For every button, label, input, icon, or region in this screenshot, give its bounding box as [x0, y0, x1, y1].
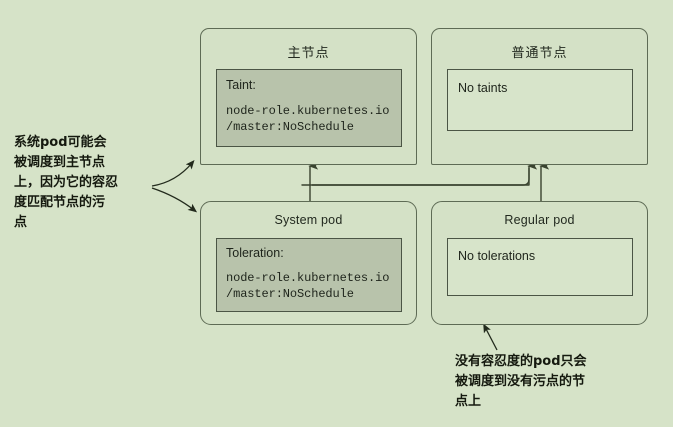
system-pod-box[interactable]: System pod Toleration: node-role.kuberne…: [200, 201, 417, 325]
left-annotation-text: 系统pod可能会 被调度到主节点 上，因为它的容忍 度匹配节点的污 点: [14, 133, 179, 233]
bottom-annotation-text: 没有容忍度的pod只会 被调度到没有污点的节 点上: [455, 352, 655, 412]
system-pod-title: System pod: [201, 213, 416, 227]
edge-systempod-branch-elbow: [312, 168, 529, 185]
taint-value: node-role.kubernetes.io /master:NoSchedu…: [226, 103, 389, 135]
no-tolerations-label: No tolerations: [458, 249, 535, 263]
annotation-arrow-to-regularpod: [485, 327, 497, 350]
regular-node-box[interactable]: 普通节点 No taints: [431, 28, 648, 165]
master-node-title: 主节点: [201, 42, 416, 61]
regular-pod-title: Regular pod: [432, 213, 647, 227]
edge-systempod-to-regularnode: [302, 166, 529, 185]
diagram-canvas: 主节点 Taint: node-role.kubernetes.io /mast…: [0, 0, 673, 427]
regular-pod-toleration-panel: No tolerations: [447, 238, 633, 296]
taint-label: Taint:: [226, 78, 256, 92]
master-node-taint-panel: Taint: node-role.kubernetes.io /master:N…: [216, 69, 402, 147]
toleration-value: node-role.kubernetes.io /master:NoSchedu…: [226, 270, 389, 302]
toleration-label: Toleration:: [226, 246, 284, 260]
system-pod-toleration-panel: Toleration: node-role.kubernetes.io /mas…: [216, 238, 402, 312]
regular-node-taint-panel: No taints: [447, 69, 633, 131]
master-node-box[interactable]: 主节点 Taint: node-role.kubernetes.io /mast…: [200, 28, 417, 165]
no-taints-label: No taints: [458, 81, 507, 95]
regular-pod-box[interactable]: Regular pod No tolerations: [431, 201, 648, 325]
regular-node-title: 普通节点: [432, 42, 647, 61]
